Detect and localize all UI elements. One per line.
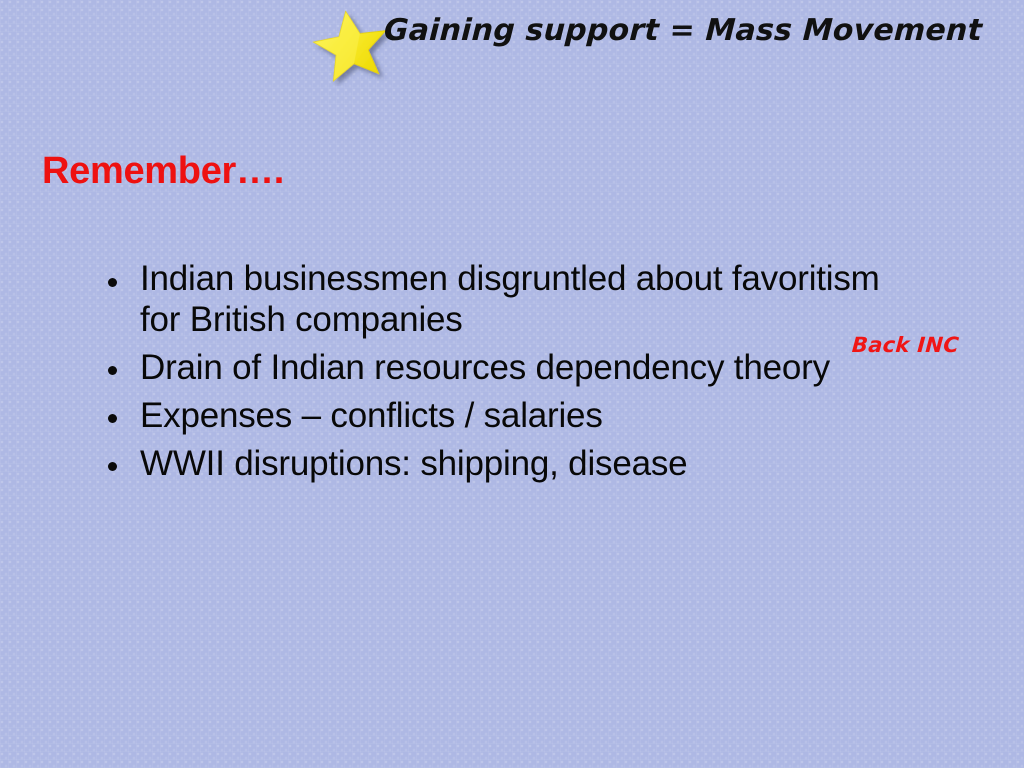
back-inc-link[interactable]: Back INC — [851, 333, 960, 357]
list-item: Drain of Indian resources dependency the… — [104, 348, 894, 389]
list-item: Expenses – conflicts / salaries — [104, 396, 894, 437]
bullet-marker-icon — [108, 366, 117, 375]
bullet-marker-icon — [108, 462, 117, 471]
list-item-text: Indian businessmen disgruntled about fav… — [140, 259, 885, 341]
presentation-slide: Gaining support = Mass Movement Remember… — [0, 0, 1024, 768]
list-item-text: Expenses – conflicts / salaries — [140, 396, 885, 437]
list-item-text: WWII disruptions: shipping, disease — [140, 444, 885, 485]
bullet-marker-icon — [108, 414, 117, 423]
remember-heading: Remember…. — [42, 152, 284, 192]
list-item: Indian businessmen disgruntled about fav… — [104, 259, 894, 341]
bullet-marker-icon — [108, 278, 117, 287]
list-item: WWII disruptions: shipping, disease — [104, 444, 894, 485]
list-item-text: Drain of Indian resources dependency the… — [140, 348, 885, 389]
slide-title-row: Gaining support = Mass Movement — [0, 14, 1024, 76]
bullet-list: Indian businessmen disgruntled about fav… — [104, 259, 894, 492]
slide-title: Gaining support = Mass Movement — [383, 14, 983, 47]
